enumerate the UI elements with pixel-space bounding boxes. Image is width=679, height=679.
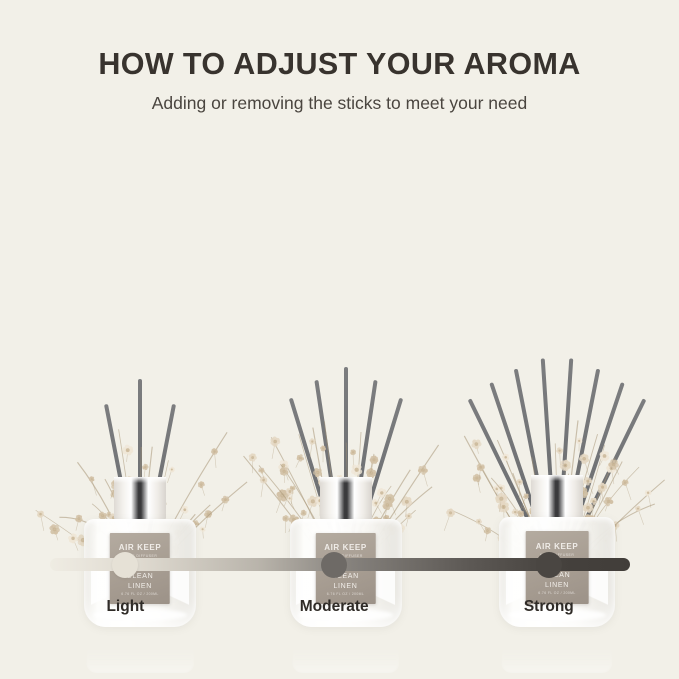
label-brand: AIR KEEP (324, 543, 367, 552)
slider-label-light: Light (106, 598, 144, 616)
label-volume: 6.76 FL OZ / 200ML (121, 592, 158, 596)
slider-label-strong: Strong (524, 598, 574, 616)
label-brand: AIR KEEP (119, 543, 162, 552)
page-title: HOW TO ADJUST YOUR AROMA (0, 47, 679, 82)
intensity-slider[interactable] (50, 558, 630, 571)
bottle-reflection (292, 627, 400, 673)
aroma-infographic: HOW TO ADJUST YOUR AROMA Adding or remov… (0, 0, 679, 679)
bottle-collar (320, 477, 372, 519)
bottle-reflection (86, 627, 194, 673)
page-subtitle: Adding or removing the sticks to meet yo… (0, 93, 679, 114)
label-volume: 6.76 FL OZ / 200ML (538, 591, 575, 595)
slider-knob-light[interactable] (112, 552, 138, 578)
light-diffuser: AIR KEEPHOME DIFFUSERCLEANLINEN6.76 FL O… (30, 119, 250, 679)
slider-knob-strong[interactable] (536, 552, 562, 578)
bottle-collar (114, 477, 166, 519)
slider-label-moderate: Moderate (300, 598, 369, 616)
strong-diffuser: AIR KEEPHOME DIFFUSERCLEANLINEN6.76 FL O… (443, 119, 671, 679)
label-volume: 6.76 FL OZ / 200ML (327, 592, 364, 596)
bottle-reflection (501, 627, 612, 673)
moderate-diffuser: AIR KEEPHOME DIFFUSERCLEANLINEN6.76 FL O… (238, 119, 453, 679)
slider-knob-moderate[interactable] (321, 552, 347, 578)
bottle-collar (531, 475, 583, 517)
label-brand: AIR KEEP (536, 542, 579, 551)
